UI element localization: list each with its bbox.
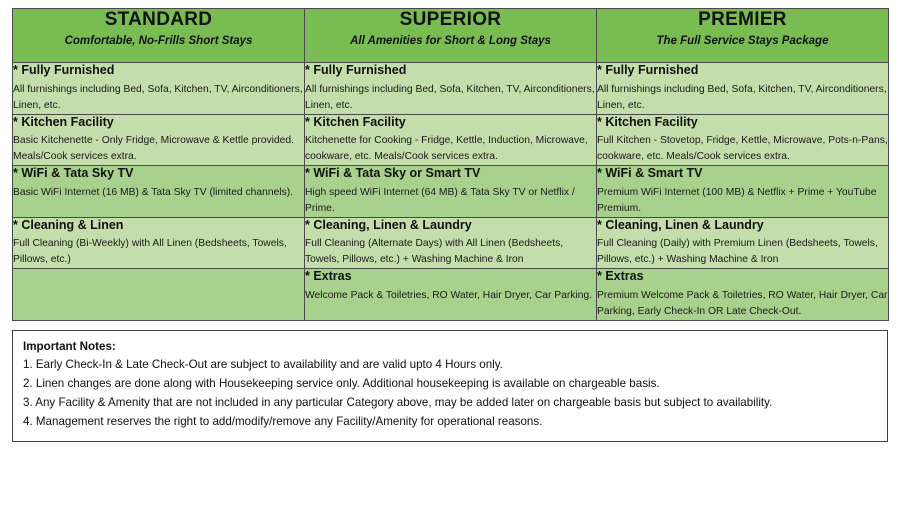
- feature-title: * WiFi & Tata Sky or Smart TV: [305, 166, 596, 182]
- column-header-standard: STANDARD Comfortable, No-Frills Short St…: [13, 9, 305, 63]
- note-item-2: 2. Linen changes are done along with Hou…: [23, 375, 877, 394]
- feature-title: * Kitchen Facility: [13, 115, 304, 131]
- feature-title: * Cleaning & Linen: [13, 218, 304, 234]
- feature-cell-wifi-premier: * WiFi & Smart TV Premium WiFi Internet …: [597, 166, 889, 218]
- note-item-3: 3. Any Facility & Amenity that are not i…: [23, 394, 877, 413]
- feature-cell-kitchen-superior: * Kitchen Facility Kitchenette for Cooki…: [305, 114, 597, 166]
- feature-cell-furnishing-superior: * Fully Furnished All furnishings includ…: [305, 63, 597, 115]
- feature-cell-extras-superior: * Extras Welcome Pack & Toiletries, RO W…: [305, 269, 597, 321]
- feature-cell-cleaning-premier: * Cleaning, Linen & Laundry Full Cleanin…: [597, 217, 889, 269]
- feature-title: * Kitchen Facility: [597, 115, 888, 131]
- note-item-1: 1. Early Check-In & Late Check-Out are s…: [23, 356, 877, 375]
- table-header: STANDARD Comfortable, No-Frills Short St…: [13, 9, 889, 63]
- feature-description: All furnishings including Bed, Sofa, Kit…: [13, 82, 304, 114]
- feature-title: * Cleaning, Linen & Laundry: [305, 218, 596, 234]
- feature-title: * Fully Furnished: [13, 63, 304, 79]
- feature-title: * Extras: [305, 269, 596, 285]
- feature-description: Kitchenette for Cooking - Fridge, Kettle…: [305, 133, 596, 165]
- important-notes-title: Important Notes:: [23, 338, 877, 355]
- pricing-comparison-page: STANDARD Comfortable, No-Frills Short St…: [0, 0, 900, 521]
- feature-title: * Kitchen Facility: [305, 115, 596, 131]
- column-subtitle: All Amenities for Short & Long Stays: [305, 35, 596, 49]
- header-row: STANDARD Comfortable, No-Frills Short St…: [13, 9, 889, 63]
- feature-description: Full Cleaning (Alternate Days) with All …: [305, 236, 596, 268]
- feature-description: Basic Kitchenette - Only Fridge, Microwa…: [13, 133, 304, 165]
- column-title: PREMIER: [597, 9, 888, 31]
- column-subtitle: The Full Service Stays Package: [597, 35, 888, 49]
- feature-cell-cleaning-superior: * Cleaning, Linen & Laundry Full Cleanin…: [305, 217, 597, 269]
- table-body: * Fully Furnished All furnishings includ…: [13, 63, 889, 321]
- column-header-superior: SUPERIOR All Amenities for Short & Long …: [305, 9, 597, 63]
- column-header-premier: PREMIER The Full Service Stays Package: [597, 9, 889, 63]
- feature-title: * Cleaning, Linen & Laundry: [597, 218, 888, 234]
- feature-description: All furnishings including Bed, Sofa, Kit…: [597, 82, 888, 114]
- feature-description: Basic WiFi Internet (16 MB) & Tata Sky T…: [13, 185, 304, 201]
- feature-description: Full Cleaning (Bi-Weekly) with All Linen…: [13, 236, 304, 268]
- feature-title: * Fully Furnished: [597, 63, 888, 79]
- table-row: * Cleaning & Linen Full Cleaning (Bi-Wee…: [13, 217, 889, 269]
- feature-title: * WiFi & Smart TV: [597, 166, 888, 182]
- feature-cell-extras-standard-empty: [13, 269, 305, 321]
- feature-cell-kitchen-standard: * Kitchen Facility Basic Kitchenette - O…: [13, 114, 305, 166]
- column-subtitle: Comfortable, No-Frills Short Stays: [13, 35, 304, 49]
- feature-cell-wifi-standard: * WiFi & Tata Sky TV Basic WiFi Internet…: [13, 166, 305, 218]
- feature-description: All furnishings including Bed, Sofa, Kit…: [305, 82, 596, 114]
- feature-cell-furnishing-premier: * Fully Furnished All furnishings includ…: [597, 63, 889, 115]
- feature-cell-cleaning-standard: * Cleaning & Linen Full Cleaning (Bi-Wee…: [13, 217, 305, 269]
- column-title: STANDARD: [13, 9, 304, 31]
- feature-cell-extras-premier: * Extras Premium Welcome Pack & Toiletri…: [597, 269, 889, 321]
- feature-title: * Extras: [597, 269, 888, 285]
- feature-cell-wifi-superior: * WiFi & Tata Sky or Smart TV High speed…: [305, 166, 597, 218]
- note-item-4: 4. Management reserves the right to add/…: [23, 413, 877, 432]
- feature-description: Premium Welcome Pack & Toiletries, RO Wa…: [597, 288, 888, 320]
- important-notes-box: Important Notes: 1. Early Check-In & Lat…: [12, 330, 888, 442]
- feature-description: Full Kitchen - Stovetop, Fridge, Kettle,…: [597, 133, 888, 165]
- feature-description: Full Cleaning (Daily) with Premium Linen…: [597, 236, 888, 268]
- table-row: * WiFi & Tata Sky TV Basic WiFi Internet…: [13, 166, 889, 218]
- column-title: SUPERIOR: [305, 9, 596, 31]
- feature-cell-furnishing-standard: * Fully Furnished All furnishings includ…: [13, 63, 305, 115]
- table-row: * Extras Welcome Pack & Toiletries, RO W…: [13, 269, 889, 321]
- feature-description: Welcome Pack & Toiletries, RO Water, Hai…: [305, 288, 596, 304]
- feature-description: Premium WiFi Internet (100 MB) & Netflix…: [597, 185, 888, 217]
- plan-comparison-table: STANDARD Comfortable, No-Frills Short St…: [12, 8, 889, 321]
- feature-description: High speed WiFi Internet (64 MB) & Tata …: [305, 185, 596, 217]
- table-row: * Fully Furnished All furnishings includ…: [13, 63, 889, 115]
- feature-title: * Fully Furnished: [305, 63, 596, 79]
- feature-cell-kitchen-premier: * Kitchen Facility Full Kitchen - Stovet…: [597, 114, 889, 166]
- feature-title: * WiFi & Tata Sky TV: [13, 166, 304, 182]
- table-row: * Kitchen Facility Basic Kitchenette - O…: [13, 114, 889, 166]
